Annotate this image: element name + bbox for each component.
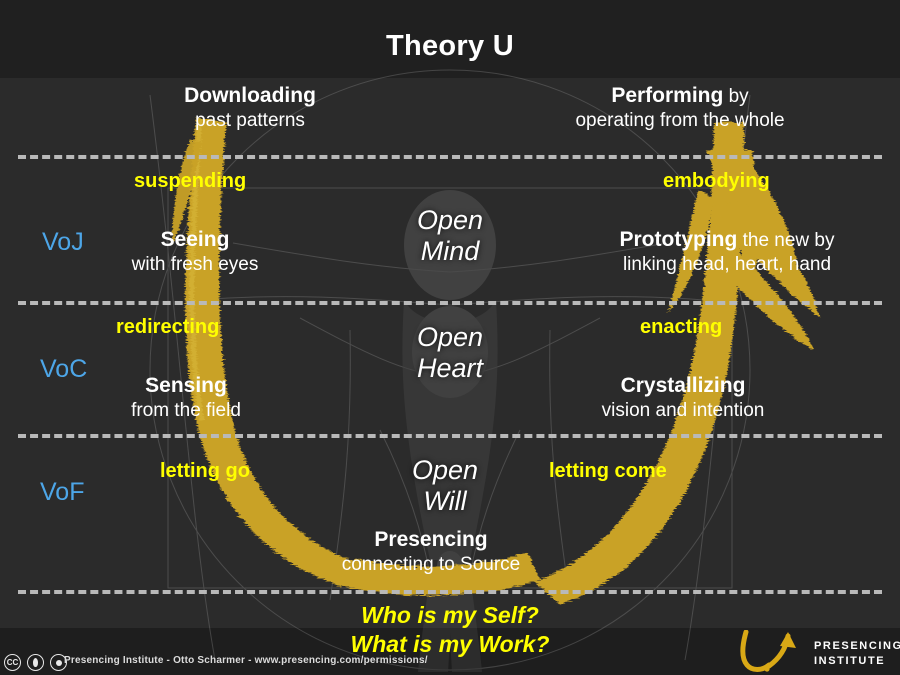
logo-line2: INSTITUTE: [814, 654, 900, 669]
movement-letting-go: letting go: [160, 460, 250, 483]
movement-redirecting: redirecting: [116, 316, 219, 339]
open-heart-line2: Heart: [417, 353, 483, 383]
theory-u-slide: Theory U Downloading past patterns Perfo…: [0, 0, 900, 675]
stage-seeing-sub: with fresh eyes: [60, 254, 330, 276]
stage-sensing-lead: Sensing: [145, 374, 227, 397]
page-title: Theory U: [0, 30, 900, 63]
open-mind: Open Mind: [330, 205, 570, 267]
stage-downloading: Downloading past patterns: [50, 84, 450, 132]
question-self: Who is my Self?: [0, 602, 900, 629]
open-will-line1: Open: [412, 455, 478, 485]
movement-letting-come: letting come: [549, 460, 667, 483]
credit-line: Presencing Institute - Otto Scharmer - w…: [64, 655, 428, 666]
voice-of-fear: VoF: [40, 478, 84, 507]
stage-downloading-sub: past patterns: [50, 110, 450, 132]
stage-sensing: Sensing from the field: [55, 374, 317, 422]
stage-presencing-sub: connecting to Source: [300, 554, 562, 576]
u-arrow-logo-icon: [736, 630, 810, 674]
stage-performing: Performing by operating from the whole: [470, 84, 890, 132]
stage-performing-sub: operating from the whole: [470, 110, 890, 132]
stage-sensing-sub: from the field: [55, 400, 317, 422]
stage-crystallizing: Crystallizing vision and intention: [552, 374, 814, 422]
divider-voc-vof: [18, 434, 882, 438]
attribution-icon: [27, 654, 44, 671]
stage-prototyping-tail: the new by: [737, 230, 834, 251]
stage-prototyping-lead: Prototyping: [620, 228, 738, 251]
movement-embodying: embodying: [663, 170, 770, 193]
stage-presencing-lead: Presencing: [374, 528, 487, 551]
logo-wordmark: PRESENCING INSTITUTE: [814, 639, 900, 668]
stage-crystallizing-lead: Crystallizing: [621, 374, 746, 397]
stage-performing-lead: Performing: [611, 84, 723, 107]
divider-bottom: [18, 590, 882, 594]
stage-downloading-lead: Downloading: [184, 84, 316, 107]
presencing-institute-logo: PRESENCING INSTITUTE: [736, 628, 896, 675]
open-heart-line1: Open: [417, 322, 483, 352]
open-mind-line2: Mind: [421, 236, 480, 266]
open-mind-line1: Open: [417, 205, 483, 235]
cc-icon: CC: [4, 654, 21, 671]
stage-prototyping-sub: linking head, heart, hand: [562, 254, 892, 276]
divider-voj-voc: [18, 301, 882, 305]
stage-performing-tail: by: [723, 86, 748, 107]
open-will-line2: Will: [423, 486, 466, 516]
divider-download-suspending: [18, 155, 882, 159]
movement-enacting: enacting: [640, 316, 722, 339]
open-will: Open Will: [325, 455, 565, 517]
stage-seeing: Seeing with fresh eyes: [60, 228, 330, 276]
stage-prototyping: Prototyping the new by linking head, hea…: [562, 228, 892, 276]
stage-crystallizing-sub: vision and intention: [552, 400, 814, 422]
open-heart: Open Heart: [330, 322, 570, 384]
logo-line1: PRESENCING: [814, 639, 900, 654]
creative-commons-badges: CC: [4, 654, 67, 671]
stage-presencing: Presencing connecting to Source: [300, 528, 562, 576]
movement-suspending: suspending: [134, 170, 246, 193]
stage-seeing-lead: Seeing: [161, 228, 230, 251]
